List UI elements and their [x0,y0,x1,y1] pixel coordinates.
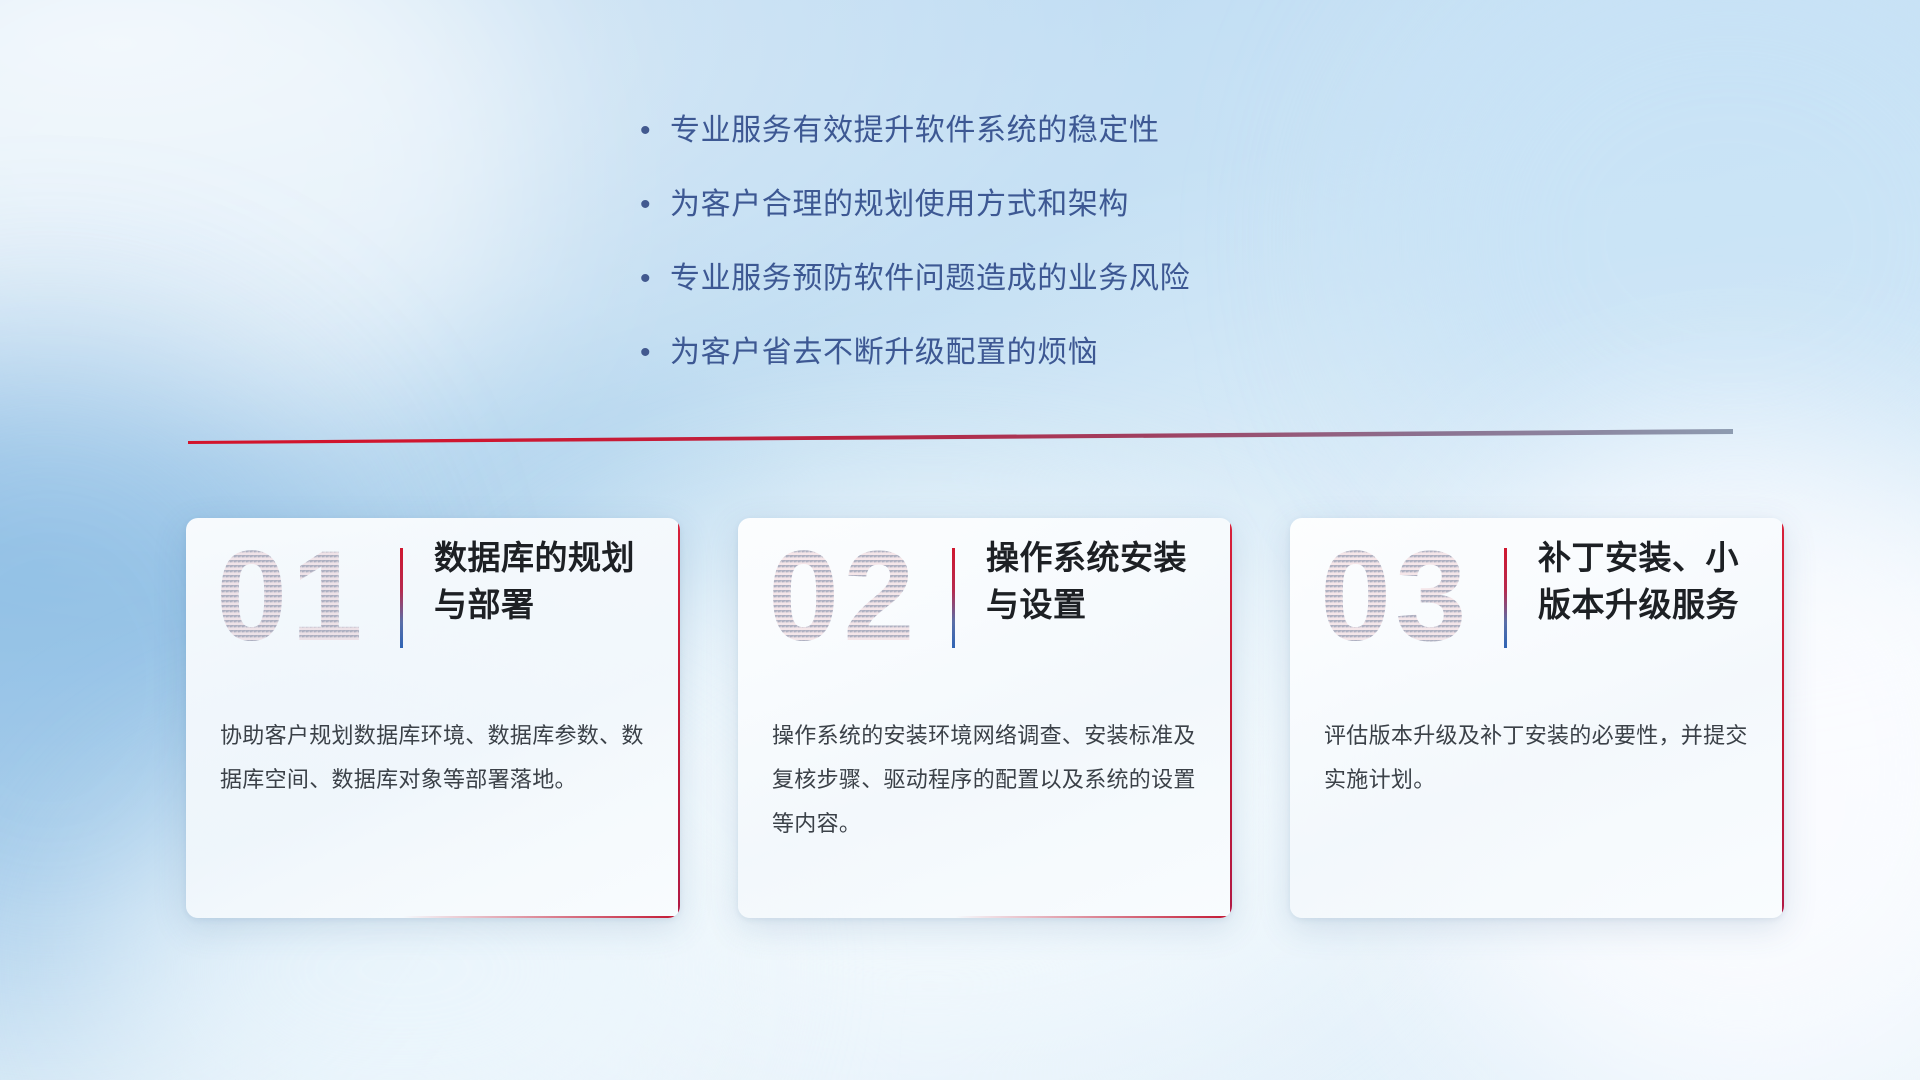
bullet-text: 为客户合理的规划使用方式和架构 [670,182,1129,228]
striped-numeral-icon: 02 [766,540,936,658]
card-title-line2: 与设置 [986,581,1216,628]
striped-numeral-icon: 03 [1318,540,1488,658]
ghost-number-01: 01 [214,540,384,658]
bullet-dot-icon: • [640,108,670,154]
card-body-text: 操作系统的安装环境网络调查、安装标准及复核步骤、驱动程序的配置以及系统的设置等内… [772,714,1202,846]
ghost-number-02: 02 [766,540,936,658]
title-accent-bar [952,548,955,648]
bullet-text: 为客户省去不断升级配置的烦恼 [670,330,1098,376]
card-title: 补丁安装、小 版本升级服务 [1538,534,1768,628]
background-glow-top-right [1380,0,1920,560]
ghost-number-03: 03 [1318,540,1488,658]
striped-numeral-icon: 01 [214,540,384,658]
card-body-text: 评估版本升级及补丁安装的必要性，并提交实施计划。 [1324,714,1754,802]
card-title-line2: 版本升级服务 [1538,581,1768,628]
card-title-line1: 数据库的规划 [434,534,664,581]
title-accent-bar [1504,548,1507,648]
card-title: 数据库的规划 与部署 [434,534,664,628]
list-item: • 专业服务预防软件问题造成的业务风险 [640,256,1400,302]
bullet-text: 专业服务预防软件问题造成的业务风险 [670,256,1190,302]
bullet-dot-icon: • [640,256,670,302]
bullet-dot-icon: • [640,330,670,376]
card-body-text: 协助客户规划数据库环境、数据库参数、数据库空间、数据库对象等部署落地。 [220,714,650,802]
service-card-02[interactable]: 02 操作系统安装 与设置 操作系统的安装环境网络调查、安装标准及复核步骤、驱动… [738,518,1232,918]
card-title: 操作系统安装 与设置 [986,534,1216,628]
title-accent-bar [400,548,403,648]
card-title-line1: 补丁安装、小 [1538,534,1768,581]
list-item: • 为客户省去不断升级配置的烦恼 [640,330,1400,376]
service-card-01[interactable]: 01 数据库的规划 与部署 协助客户规划数据库环境、数据库参数、数据库空间、数据… [186,518,680,918]
service-card-03[interactable]: 03 补丁安装、小 版本升级服务 评估版本升级及补丁安装的必要性，并提交实施计划… [1290,518,1784,918]
card-header: 03 补丁安装、小 版本升级服务 [1290,518,1784,704]
list-item: • 为客户合理的规划使用方式和架构 [640,182,1400,228]
list-item: • 专业服务有效提升软件系统的稳定性 [640,108,1400,154]
card-header: 02 操作系统安装 与设置 [738,518,1232,704]
benefits-bullet-list: • 专业服务有效提升软件系统的稳定性 • 为客户合理的规划使用方式和架构 • 专… [640,108,1400,404]
bullet-dot-icon: • [640,182,670,228]
bullet-text: 专业服务有效提升软件系统的稳定性 [670,108,1160,154]
card-title-line2: 与部署 [434,581,664,628]
card-header: 01 数据库的规划 与部署 [186,518,680,704]
background-glow-top-left [0,0,540,480]
card-title-line1: 操作系统安装 [986,534,1216,581]
slide-canvas: • 专业服务有效提升软件系统的稳定性 • 为客户合理的规划使用方式和架构 • 专… [0,0,1920,1080]
section-divider [188,428,1733,444]
tapered-rule-icon [188,428,1733,444]
service-card-row: 01 数据库的规划 与部署 协助客户规划数据库环境、数据库参数、数据库空间、数据… [0,518,1920,938]
